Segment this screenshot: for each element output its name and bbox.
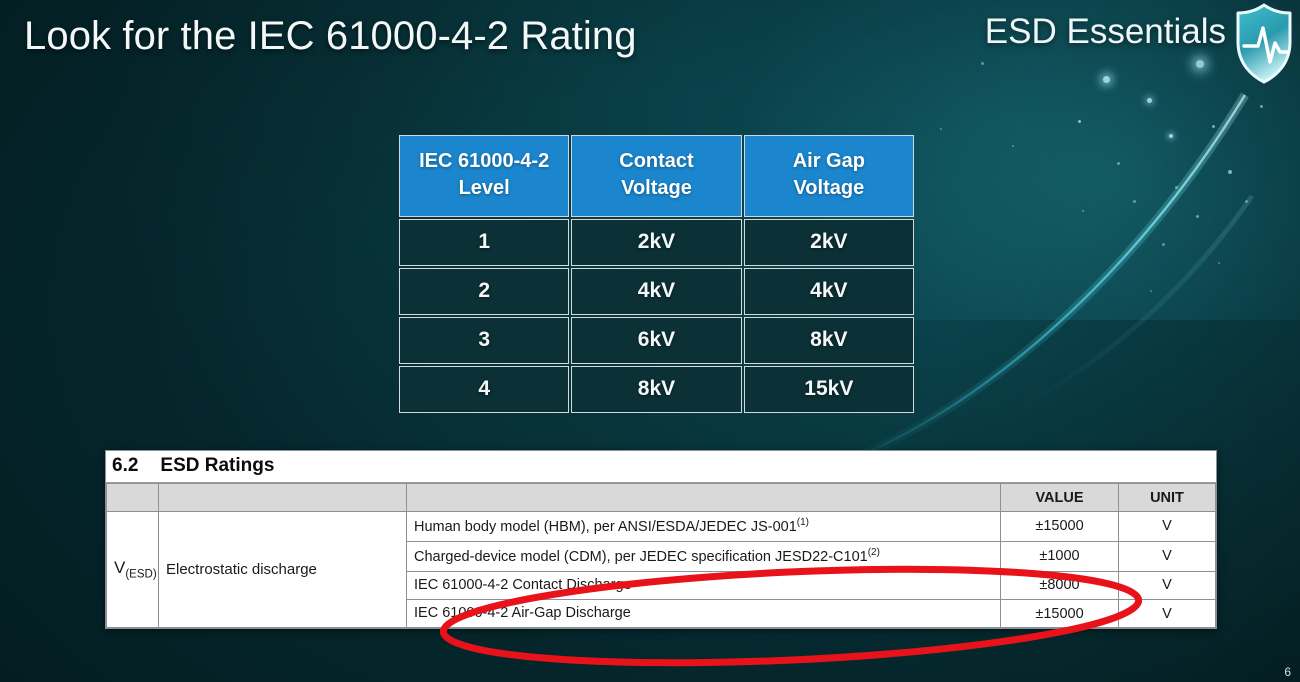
cell-value: ±1000 — [1001, 541, 1119, 571]
column-header-air-gap-voltage: Air Gap Voltage — [744, 135, 914, 217]
table-row: 3 6kV 8kV — [399, 317, 914, 364]
brand-title: ESD Essentials — [985, 12, 1226, 52]
table-row: 4 8kV 15kV — [399, 366, 914, 413]
section-number: 6.2 — [112, 455, 138, 477]
cell-level: 3 — [399, 317, 569, 364]
column-header-value: VALUE — [1001, 484, 1119, 512]
column-header-symbol — [107, 484, 159, 512]
shield-heartbeat-icon — [1232, 2, 1296, 86]
column-header-description — [407, 484, 1001, 512]
cell-level: 1 — [399, 219, 569, 266]
cell-description: IEC 61000-4-2 Contact Discharge — [407, 571, 1001, 599]
datasheet-row: V(ESD) Electrostatic discharge Human bod… — [107, 512, 1216, 542]
cell-contact: 6kV — [571, 317, 741, 364]
datasheet-esd-ratings: 6.2 ESD Ratings VALUE UNIT V(ESD) Electr — [105, 450, 1217, 629]
column-header-contact-voltage: Contact Voltage — [571, 135, 741, 217]
cell-value: ±15000 — [1001, 512, 1119, 542]
cell-description: Human body model (HBM), per ANSI/ESDA/JE… — [407, 512, 1001, 542]
cell-level: 2 — [399, 268, 569, 315]
cell-airgap: 2kV — [744, 219, 914, 266]
cell-airgap: 4kV — [744, 268, 914, 315]
cell-level: 4 — [399, 366, 569, 413]
cell-parameter: Electrostatic discharge — [159, 512, 407, 628]
cell-contact: 2kV — [571, 219, 741, 266]
cell-unit: V — [1119, 512, 1216, 542]
cell-contact: 8kV — [571, 366, 741, 413]
iec-level-table: IEC 61000-4-2 Level Contact Voltage Air … — [397, 133, 916, 415]
cell-unit: V — [1119, 600, 1216, 628]
cell-value: ±8000 — [1001, 571, 1119, 599]
cell-airgap: 15kV — [744, 366, 914, 413]
page-title: Look for the IEC 61000-4-2 Rating — [24, 14, 637, 59]
cell-contact: 4kV — [571, 268, 741, 315]
slide: Look for the IEC 61000-4-2 Rating ESD Es… — [0, 0, 1300, 682]
datasheet-table: VALUE UNIT V(ESD) Electrostatic discharg… — [106, 483, 1216, 628]
cell-unit: V — [1119, 571, 1216, 599]
section-title: ESD Ratings — [160, 455, 274, 477]
cell-airgap: 8kV — [744, 317, 914, 364]
page-number: 6 — [1284, 665, 1291, 679]
datasheet-section-heading: 6.2 ESD Ratings — [106, 451, 1216, 483]
cell-value: ±15000 — [1001, 600, 1119, 628]
cell-description: IEC 61000-4-2 Air-Gap Discharge — [407, 600, 1001, 628]
table-header-row: IEC 61000-4-2 Level Contact Voltage Air … — [399, 135, 914, 217]
cell-description: Charged-device model (CDM), per JEDEC sp… — [407, 541, 1001, 571]
datasheet-header-row: VALUE UNIT — [107, 484, 1216, 512]
table-row: 1 2kV 2kV — [399, 219, 914, 266]
cell-unit: V — [1119, 541, 1216, 571]
column-header-parameter — [159, 484, 407, 512]
column-header-level: IEC 61000-4-2 Level — [399, 135, 569, 217]
column-header-unit: UNIT — [1119, 484, 1216, 512]
table-row: 2 4kV 4kV — [399, 268, 914, 315]
cell-symbol-vesd: V(ESD) — [107, 512, 159, 628]
